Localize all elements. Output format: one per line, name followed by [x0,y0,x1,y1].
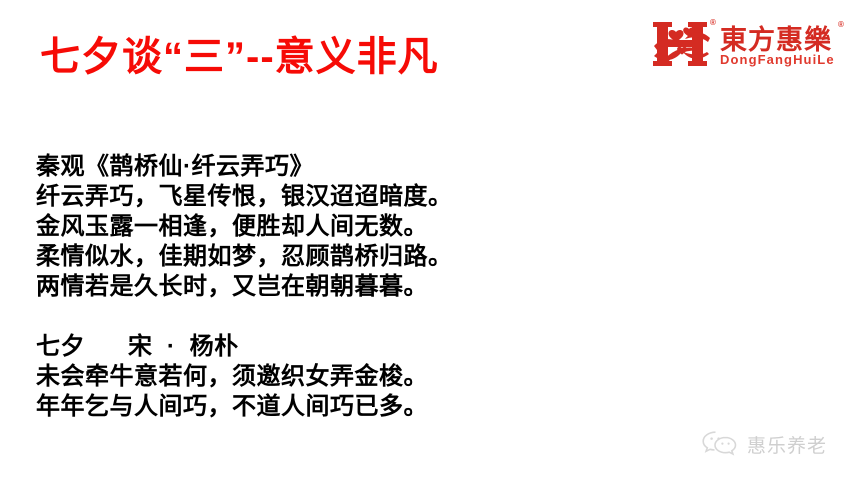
poem-line: 两情若是久长时，又岂在朝朝暮暮。 [36,272,506,302]
poem-line: 纤云弄巧，飞星传恨，银汉迢迢暗度。 [36,182,506,212]
presentation-slide: 七夕谈“三”--意义非凡 [0,0,862,486]
poem-heading-1: 秦观《鹊桥仙·纤云弄巧》 [36,152,506,182]
registered-mark-icon: ® [710,18,716,27]
slide-title: 七夕谈“三”--意义非凡 [40,34,439,80]
poem-content: 秦观《鹊桥仙·纤云弄巧》 纤云弄巧，飞星传恨，银汉迢迢暗度。 金风玉露一相逢，便… [36,152,506,422]
heart-monogram-logo-icon [652,16,714,72]
registered-mark-secondary-icon: ® [838,20,844,29]
watermark-label: 惠乐养老 [747,431,827,458]
brand-name-pinyin: DongFangHuiLe [720,52,835,67]
poem-heading-2: 七夕 宋 · 杨朴 [36,332,506,362]
wechat-bubbles-icon [700,428,740,461]
poem-line: 年年乞与人间巧，不道人间巧已多。 [36,392,506,422]
paragraph-spacer [36,302,506,332]
wechat-watermark: 惠乐养老 [700,428,827,461]
brand-logo: ® 東方惠樂 ® DongFangHuiLe [652,14,852,76]
poem-line: 未会牵牛意若何，须邀织女弄金梭。 [36,362,506,392]
poem-line: 柔情似水，佳期如梦，忍顾鹊桥归路。 [36,242,506,272]
poem-line: 金风玉露一相逢，便胜却人间无数。 [36,212,506,242]
